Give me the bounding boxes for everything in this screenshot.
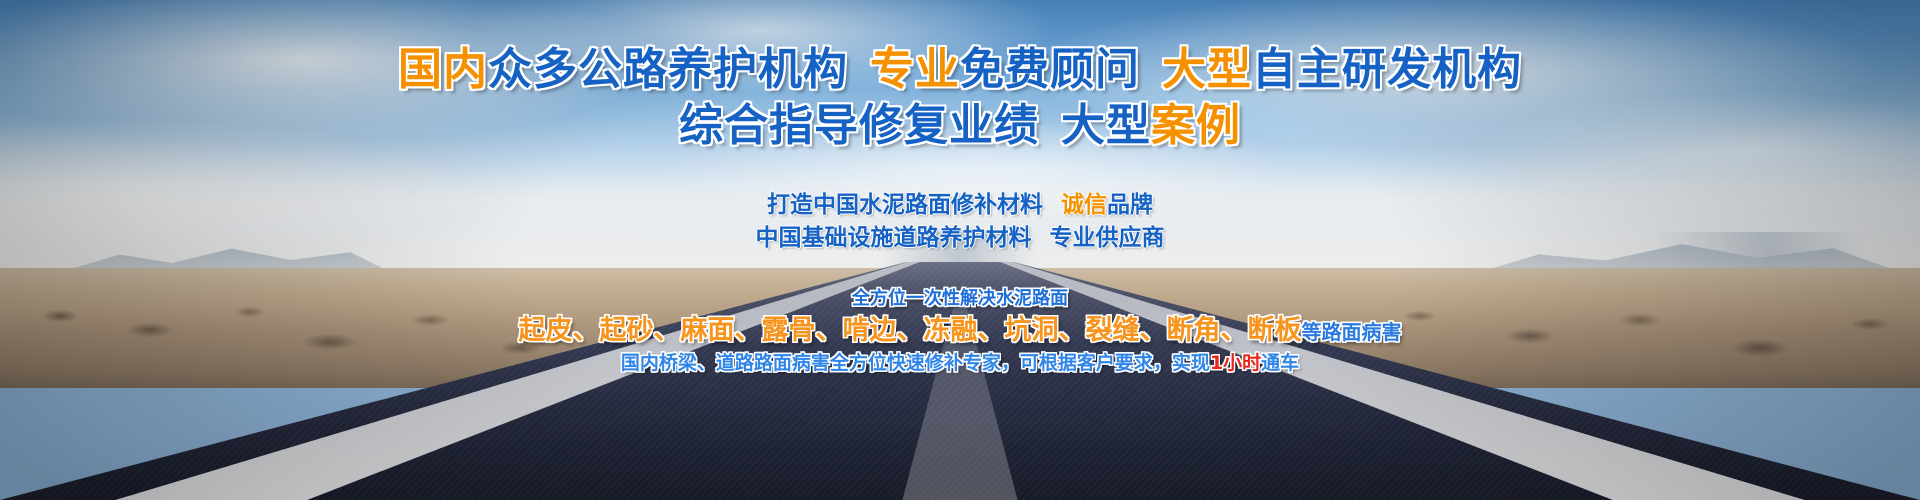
headline2-seg-1: 综合指导修复业绩 <box>679 100 1039 151</box>
subheadline-block: 打造中国水泥路面修补材料诚信品牌 中国基础设施道路养护材料专业供应商 <box>0 189 1920 256</box>
subheadline-line-2: 中国基础设施道路养护材料专业供应商 <box>0 222 1920 255</box>
defect-list-tail: 等路面病害 <box>1302 320 1402 344</box>
headline1-seg-3: 专业 <box>870 44 960 95</box>
promo-banner: 国内众多公路养护机构专业免费顾问大型自主研发机构 综合指导修复业绩大型案例 打造… <box>0 0 1920 500</box>
subheadline-line-1: 打造中国水泥路面修补材料诚信品牌 <box>0 189 1920 222</box>
headline-line-2: 综合指导修复业绩大型案例 <box>0 104 1920 148</box>
subheadline1-part1: 打造中国水泥路面修补材料 <box>767 192 1043 218</box>
bottom-line3-highlight: 1小时 <box>1210 352 1261 374</box>
banner-text-overlay: 国内众多公路养护机构专业免费顾问大型自主研发机构 综合指导修复业绩大型案例 打造… <box>0 0 1920 500</box>
subheadline2-part2: 专业供应商 <box>1050 225 1165 251</box>
headline1-seg-1: 国内 <box>398 44 488 95</box>
headline2-seg-2: 大型 <box>1061 100 1151 151</box>
headline-line-1: 国内众多公路养护机构专业免费顾问大型自主研发机构 <box>0 48 1920 92</box>
defect-list-text: 起皮、起砂、麻面、露骨、啃边、冻融、坑洞、裂缝、断角、断板 <box>519 315 1302 346</box>
headline1-seg-5: 大型 <box>1162 44 1252 95</box>
bottom-line3-part2: 通车 <box>1261 352 1299 374</box>
bottom-text-block: 全方位一次性解决水泥路面 起皮、起砂、麻面、露骨、啃边、冻融、坑洞、裂缝、断角、… <box>0 288 1920 374</box>
headline1-seg-6: 自主研发机构 <box>1252 44 1522 95</box>
headline2-seg-3: 案例 <box>1151 100 1241 151</box>
bottom-line3-part1: 国内桥梁、道路路面病害全方位快速修补专家，可根据客户要求，实现 <box>621 352 1210 374</box>
headline1-seg-2: 众多公路养护机构 <box>488 44 848 95</box>
headline1-seg-4: 免费顾问 <box>960 44 1140 95</box>
bottom-line-1: 全方位一次性解决水泥路面 <box>0 288 1920 310</box>
subheadline1-part3: 品牌 <box>1107 192 1153 218</box>
subheadline1-part2: 诚信 <box>1061 192 1107 218</box>
bottom-line-3: 国内桥梁、道路路面病害全方位快速修补专家，可根据客户要求，实现1小时通车 <box>0 352 1920 375</box>
subheadline2-part1: 中国基础设施道路养护材料 <box>756 225 1032 251</box>
bottom-defect-list: 起皮、起砂、麻面、露骨、啃边、冻融、坑洞、裂缝、断角、断板等路面病害 <box>0 315 1920 346</box>
